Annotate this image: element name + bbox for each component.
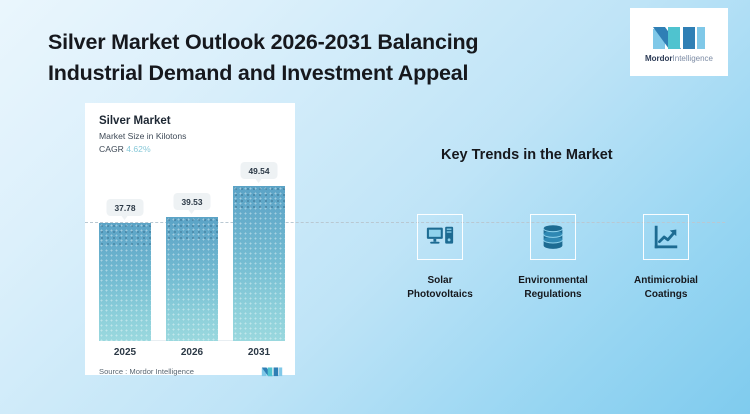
brand-name-secondary: Intelligence [673,54,713,63]
trend-label: Solar Photovoltaics [407,274,473,302]
trend-item-antimicrobial-coatings: Antimicrobial Coatings [614,214,718,302]
bar-chart-plot: 37.78 39.53 49.54 [99,169,285,341]
cagr-label: CAGR [99,144,124,154]
x-axis-tick-labels: 2025 2026 2031 [99,347,285,358]
page-title-line-1: Silver Market Outlook 2026-2031 Balancin… [48,27,588,58]
chart-card: Silver Market Market Size in Kilotons CA… [85,103,295,375]
bar-2026 [166,217,218,341]
trend-icon-box [417,214,463,260]
trend-label-line-2: Regulations [524,289,581,300]
bar-group: 37.78 39.53 49.54 [99,169,285,341]
bar-top-texture [166,217,218,243]
mordor-mi-monogram-icon [651,21,707,51]
trend-icon-box [530,214,576,260]
bar-top-texture [99,223,151,249]
bar-value-label: 39.53 [174,193,211,210]
bar-top-texture [233,186,285,212]
bar-value-label: 37.78 [107,199,144,216]
x-tick-2031: 2031 [233,347,285,358]
brand-wordmark: MordorIntelligence [645,55,713,63]
bar-2025 [99,223,151,341]
trend-label: Environmental Regulations [518,274,587,302]
trend-label: Antimicrobial Coatings [634,274,698,302]
page-title: Silver Market Outlook 2026-2031 Balancin… [48,27,588,88]
key-trends-list: Solar Photovoltaics Environmental Regula… [388,214,718,302]
chart-title: Silver Market [99,115,281,127]
trend-item-environmental-regulations: Environmental Regulations [501,214,605,302]
trend-label-line-1: Environmental [518,275,587,286]
trend-label-line-2: Coatings [645,289,688,300]
brand-logo: MordorIntelligence [630,8,728,76]
growth-chart-arrow-icon [651,222,681,252]
chart-subtitle: Market Size in Kilotons [99,131,281,141]
mordor-mi-monogram-icon [261,365,283,377]
cagr-value: 4.62% [126,144,150,154]
trend-icon-box [643,214,689,260]
desktop-computer-icon [425,222,455,252]
brand-name-primary: Mordor [645,54,673,63]
trend-label-line-1: Solar [427,275,452,286]
source-label: Source : Mordor Intelligence [99,367,194,376]
trend-item-solar-photovoltaics: Solar Photovoltaics [388,214,492,302]
trend-label-line-2: Photovoltaics [407,289,473,300]
trend-label-line-1: Antimicrobial [634,275,698,286]
key-trends-heading: Key Trends in the Market [441,147,613,163]
chart-footer: Source : Mordor Intelligence [99,365,283,377]
page-title-line-2: Industrial Demand and Investment Appeal [48,58,588,89]
bar-item: 39.53 [166,169,218,341]
bar-2031 [233,186,285,341]
database-icon [538,222,568,252]
x-tick-2026: 2026 [166,347,218,358]
bar-item: 49.54 [233,169,285,341]
bar-value-label: 49.54 [241,162,278,179]
x-tick-2025: 2025 [99,347,151,358]
bar-item: 37.78 [99,169,151,341]
chart-cagr: CAGR 4.62% [99,144,281,154]
